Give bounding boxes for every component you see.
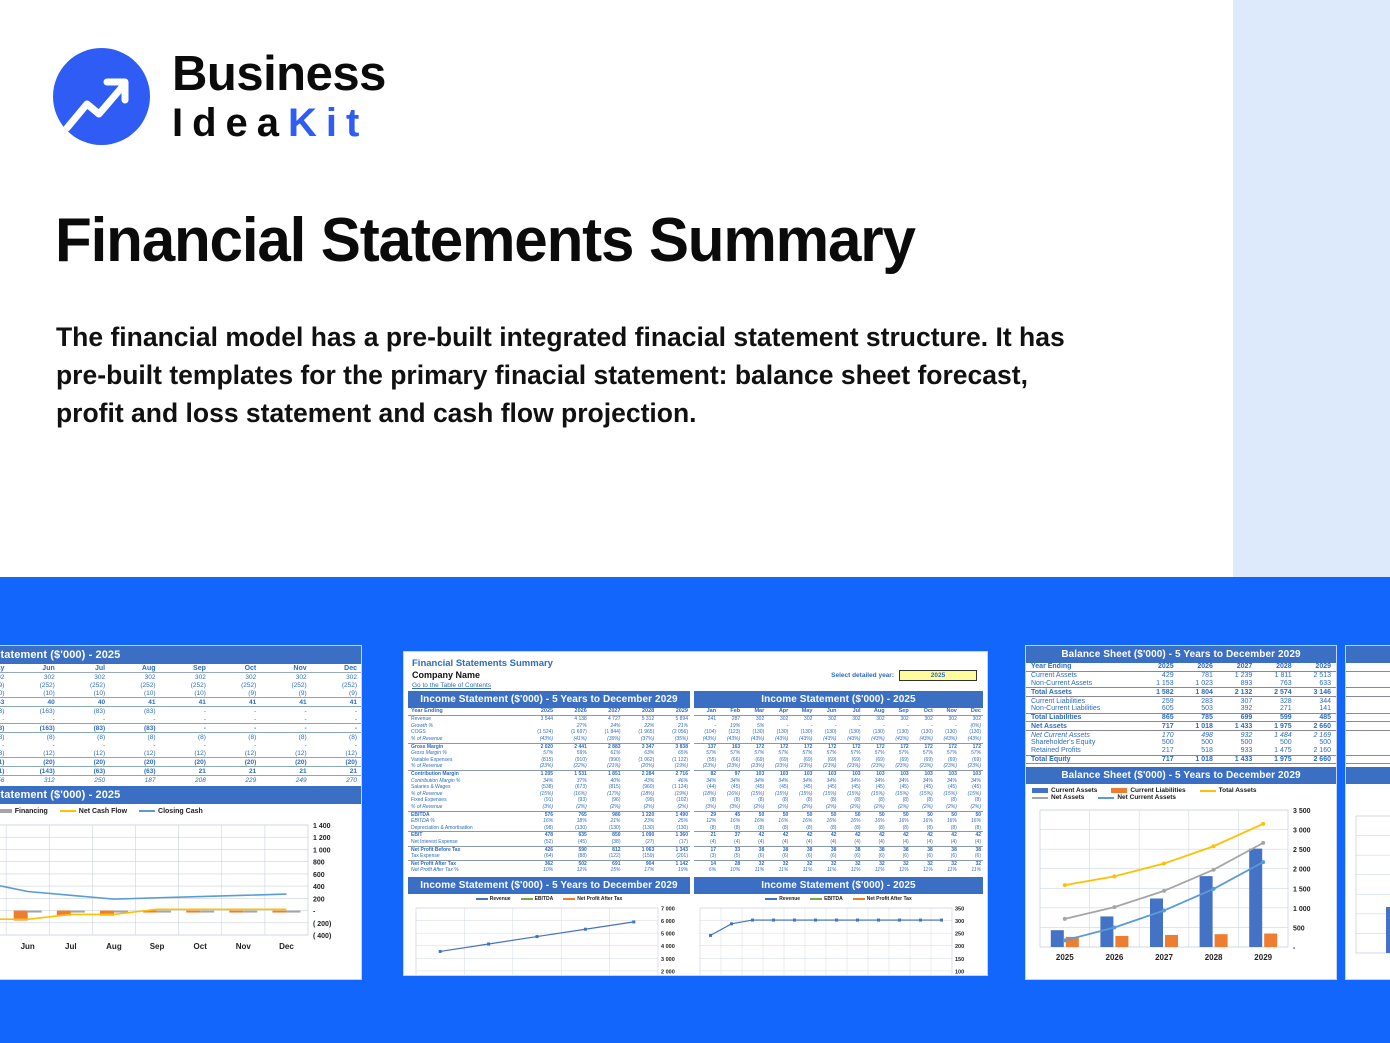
table-row: 124: [1346, 680, 1390, 688]
table-cell: (45): [863, 784, 887, 791]
table-cell: (23%): [814, 763, 838, 770]
table-cell: (8): [311, 733, 361, 742]
table-cell: 512: [1346, 722, 1390, 731]
table-cell: (8): [887, 797, 911, 804]
legend-item: Net Current Assets: [1098, 794, 1176, 801]
month-header: Sep: [160, 664, 210, 673]
table-cell: (8): [8, 733, 58, 742]
table-cell: (20): [8, 758, 58, 767]
table-cell: (130): [555, 825, 589, 832]
table-cell: (69): [790, 757, 814, 764]
table-cell: (9): [210, 689, 260, 698]
table-cell: 590: [555, 846, 589, 853]
legend-label: Current Liabilities: [1130, 787, 1185, 794]
table-cell: (18%): [623, 791, 657, 798]
table-cell: (6): [911, 853, 935, 860]
decorative-right-strip: [1233, 0, 1390, 577]
table-cell: (15%): [863, 791, 887, 798]
table-row: Current Assets4297811 2391 8112 513: [1026, 671, 1336, 679]
table-cell: 512: [1346, 755, 1390, 764]
table-cell: 1 975: [1257, 722, 1296, 731]
table-cell: (19%): [656, 763, 690, 770]
table-cell: 500: [1139, 739, 1178, 747]
table-cell: (163): [8, 707, 58, 716]
svg-text:1 200: 1 200: [313, 835, 331, 842]
table-row: 1 174: [1346, 671, 1390, 679]
screenshot-cash-flow[interactable]: Cash Flow Statement ($'000) - 2025 MayJu…: [0, 645, 362, 980]
table-cell: 187: [109, 776, 159, 785]
table-row: 137163172172172172172172172172172172: [694, 743, 983, 750]
table-cell: (19%): [656, 791, 690, 798]
table-cell: 42: [887, 832, 911, 839]
table-cell: Total Equity: [1026, 755, 1139, 764]
svg-text:1 500: 1 500: [1293, 887, 1311, 894]
table-cell: (8): [863, 797, 887, 804]
table-cell: 980: [589, 811, 623, 818]
table-cell: (8): [260, 733, 310, 742]
table-cell: (6): [790, 853, 814, 860]
table-cell: Current Liabilities: [1026, 697, 1139, 705]
table-cell: (16%): [555, 791, 589, 798]
legend-item: EBITDA: [521, 896, 554, 902]
table-cell: (20): [311, 758, 361, 767]
table-cell: (673): [555, 784, 589, 791]
month-header: May: [790, 708, 814, 716]
table-cell: 93: [1346, 697, 1390, 705]
legend-label: Net Profit After Tax: [577, 896, 622, 902]
table-cell: (63): [59, 767, 109, 776]
table-row: 302302302302302302302302: [0, 673, 361, 682]
table-row: --------: [0, 741, 361, 749]
table-cell: 11%: [814, 867, 838, 874]
table-cell: 103: [911, 771, 935, 778]
table-cell: 27%: [555, 723, 589, 730]
legend-label: Net Profit After Tax: [867, 896, 912, 902]
table-cell: 38: [887, 846, 911, 853]
table-cell: 10%: [521, 867, 555, 874]
table-cell: -: [838, 723, 862, 730]
table-cell: (8): [694, 797, 718, 804]
svg-text:6 000: 6 000: [661, 919, 675, 925]
month-header: Aug: [109, 664, 159, 673]
svg-text:350: 350: [955, 906, 964, 912]
table-cell: (2%): [887, 804, 911, 811]
table-row: Gross Margin2 0202 4412 8833 3473 838: [408, 743, 690, 750]
table-row: EBITDA5767659801 2201 490: [408, 811, 690, 818]
table-cell: 172: [935, 743, 959, 750]
screenshot-balance-sheet[interactable]: Balance Sheet ($'000) - 5 Years to Decem…: [1025, 645, 1337, 980]
table-cell: Contribution Margin %: [408, 778, 521, 785]
table-cell: (21%): [589, 763, 623, 770]
table-cell: 21: [260, 767, 310, 776]
table-row: (13)(12)(12)(12)(12)(12)(12)(12): [0, 749, 361, 758]
table-cell: 33: [718, 846, 742, 853]
trend-arrow-up-icon: [53, 48, 150, 145]
table-cell: (15%): [911, 791, 935, 798]
table-cell: (123): [718, 729, 742, 736]
table-cell: (12): [59, 749, 109, 758]
table-cell: 302: [742, 716, 766, 723]
table-cell: (5): [718, 853, 742, 860]
table-cell: (910): [555, 757, 589, 764]
table-cell: -: [935, 723, 959, 730]
table-cell: 42: [863, 832, 887, 839]
year-header: 2026: [555, 708, 589, 716]
table-cell: Tax Expense: [408, 853, 521, 860]
table-cell: 50: [935, 811, 959, 818]
svg-text:200: 200: [955, 944, 964, 950]
table-cell: (37%): [623, 736, 657, 743]
table-cell: 34%: [694, 778, 718, 785]
svg-text:3 500: 3 500: [1293, 808, 1311, 815]
table-cell: (23%): [766, 763, 790, 770]
table-cell: -: [109, 715, 159, 724]
month-header: Dec: [311, 664, 361, 673]
annual-income-header: Year Ending20252026202720282029: [408, 708, 690, 716]
year-header: 2029: [656, 708, 690, 716]
table-cell: 42: [935, 832, 959, 839]
table-row: EBIT4786358501 0901 360: [408, 832, 690, 839]
table-cell: -: [814, 723, 838, 730]
table-cell: (45): [555, 839, 589, 846]
table-cell: 302: [0, 673, 8, 682]
table-cell: 34%: [814, 778, 838, 785]
legend-label: Net Current Assets: [1117, 794, 1176, 801]
table-cell: (69): [838, 757, 862, 764]
table-cell: (8): [766, 825, 790, 832]
legend-label: Total Assets: [1219, 787, 1257, 794]
table-row: Growth %27%24%22%21%: [408, 723, 690, 730]
table-cell: (22%): [555, 763, 589, 770]
table-cell: 271: [1257, 705, 1296, 713]
table-cell: 15%: [589, 867, 623, 874]
table-cell: 43%: [623, 778, 657, 785]
table-cell: 502: [555, 860, 589, 867]
table-cell: (4): [814, 839, 838, 846]
month-header: Nov: [260, 664, 310, 673]
table-cell: 1 142: [656, 860, 690, 867]
table-cell: -: [260, 724, 310, 733]
table-cell: 50: [959, 811, 983, 818]
page-description: The financial model has a pre-built inte…: [56, 318, 1096, 432]
table-cell: (4): [742, 839, 766, 846]
screenshot-income-statement[interactable]: Financial Statements Summary Company Nam…: [403, 651, 988, 976]
table-cell: 865: [1139, 713, 1178, 722]
table-row: 12%16%16%16%16%16%16%16%16%16%16%16%: [694, 818, 983, 825]
legend-label: Revenue: [490, 896, 511, 902]
legend-label: Net Assets: [1051, 794, 1084, 801]
svg-text:Aug: Aug: [106, 942, 122, 951]
table-row: 512: [1346, 755, 1390, 764]
table-cell: 11%: [790, 867, 814, 874]
table-cell: (3): [694, 853, 718, 860]
table-cell: 40: [8, 698, 58, 707]
table-cell: 518: [1179, 747, 1218, 755]
table-cell: 16%: [935, 818, 959, 825]
table-cell: (8): [718, 797, 742, 804]
table-cell: 172: [911, 743, 935, 750]
svg-text:2028: 2028: [1205, 953, 1223, 962]
table-cell: (4): [838, 839, 862, 846]
table-cell: 57%: [911, 750, 935, 757]
table-cell: 1 174: [1346, 671, 1390, 679]
table-cell: (45): [814, 784, 838, 791]
table-cell: (8): [911, 825, 935, 832]
table-cell: 172: [863, 743, 887, 750]
table-cell: (252): [160, 681, 210, 689]
svg-text:Jul: Jul: [65, 942, 77, 951]
table-cell: 12%: [694, 818, 718, 825]
table-row: (104)(123)(130)(130)(130)(130)(130)(130)…: [694, 729, 983, 736]
table-cell: 283: [1179, 697, 1218, 705]
table-cell: (96): [589, 797, 623, 804]
table-cell: (8): [863, 825, 887, 832]
table-row: 4340404141414141: [0, 698, 361, 707]
table-cell: 34%: [959, 778, 983, 785]
table-cell: (8): [718, 825, 742, 832]
table-cell: -: [109, 741, 159, 749]
table-row: % of Revenue(23%)(22%)(21%)(20%)(19%): [408, 763, 690, 770]
table-cell: (8): [935, 825, 959, 832]
table-cell: (8): [814, 797, 838, 804]
table-cell: 34%: [911, 778, 935, 785]
table-row: Net Interest Expense(52)(45)(38)(27)(17): [408, 839, 690, 846]
table-cell: -: [311, 707, 361, 716]
annual-income-chart-legend: RevenueEBITDANet Profit After Tax: [408, 894, 690, 904]
table-cell: 43: [0, 698, 8, 707]
table-cell: 38: [838, 846, 862, 853]
table-cell: Retained Profits: [1026, 747, 1139, 755]
table-cell: 32: [959, 860, 983, 867]
table-cell: (43%): [814, 736, 838, 743]
table-cell: (15%): [935, 791, 959, 798]
table-cell: 2 160: [1297, 747, 1336, 755]
table-cell: -: [260, 715, 310, 724]
table-cell: (83): [59, 724, 109, 733]
table-cell: (8): [160, 733, 210, 742]
table-cell: Contribution Margin: [408, 771, 521, 778]
month-header: Jan: [1346, 663, 1390, 671]
table-cell: 46%: [656, 778, 690, 785]
table-cell: 21: [694, 832, 718, 839]
svg-text:400: 400: [313, 884, 325, 891]
table-cell: (8): [0, 733, 8, 742]
table-row: Tax Expense(64)(88)(122)(159)(201): [408, 853, 690, 860]
table-row: Net Assets7171 0181 4331 9752 660: [1026, 722, 1336, 731]
table-cell: 103: [766, 771, 790, 778]
table-cell: 14: [694, 860, 718, 867]
year-selector-input[interactable]: 2025: [899, 670, 977, 681]
svg-text:2025: 2025: [1056, 953, 1074, 962]
mid-heading: Financial Statements Summary: [412, 658, 979, 669]
brand-name-secondary: IdeaKit: [172, 103, 386, 143]
table-cell: 63%: [623, 750, 657, 757]
month-header: Sep: [887, 708, 911, 716]
table-cell: (69): [766, 757, 790, 764]
legend-label: Current Assets: [1051, 787, 1097, 794]
table-row: Salaries & Wages(538)(673)(815)(960)(1 1…: [408, 784, 690, 791]
table-cell: (17): [656, 839, 690, 846]
table-row: 294550505050505050505050: [694, 811, 983, 818]
table-cell: 302: [160, 673, 210, 682]
month-header: Mar: [742, 708, 766, 716]
far-monthly-table: Jan 1 1741241 297936927865121 0815001251…: [1346, 663, 1390, 764]
table-cell: 38: [766, 846, 790, 853]
svg-text:300: 300: [955, 919, 964, 925]
table-cell: (69): [863, 757, 887, 764]
table-cell: 392: [1218, 705, 1257, 713]
table-cell: (45): [959, 784, 983, 791]
table-cell: 11%: [863, 867, 887, 874]
table-cell: 1 433: [1218, 722, 1257, 731]
table-cell: 38: [742, 846, 766, 853]
table-row: 93: [1346, 697, 1390, 705]
table-cell: (4): [766, 839, 790, 846]
table-cell: 38: [935, 846, 959, 853]
balance-sheet-chart: 3 5003 0002 5002 0001 5001 000500-202520…: [1026, 804, 1337, 969]
table-cell: (1 122): [656, 757, 690, 764]
table-cell: (39%): [589, 736, 623, 743]
table-cell: 32: [790, 860, 814, 867]
table-cell: (43%): [718, 736, 742, 743]
legend-item: Net Cash Flow: [60, 808, 127, 815]
table-cell: 1 205: [521, 771, 555, 778]
month-header: May: [0, 664, 8, 673]
table-row: COGS(1 524)(1 697)(1 844)(1 965)(2 056): [408, 729, 690, 736]
table-cell: 2 020: [521, 743, 555, 750]
table-cell: 2 132: [1218, 688, 1257, 697]
table-of-contents-link[interactable]: Go to the Table of Contents: [412, 682, 979, 689]
annual-income-chart: 7 0006 0005 0004 0003 0002 0001 000-2025…: [408, 904, 690, 976]
table-cell: (15%): [887, 791, 911, 798]
table-cell: (2%): [790, 804, 814, 811]
page-title: Financial Statements Summary: [55, 205, 915, 276]
table-cell: 633: [1297, 680, 1336, 688]
year-header: 2028: [623, 708, 657, 716]
table-cell: 717: [1139, 722, 1178, 731]
table-row: 12: [1346, 747, 1390, 755]
svg-text:Oct: Oct: [194, 942, 208, 951]
table-row: Net Profit After Tax3625026919041 142: [408, 860, 690, 867]
table-cell: (130): [623, 825, 657, 832]
table-cell: 2 284: [623, 771, 657, 778]
table-cell: 103: [790, 771, 814, 778]
table-cell: 57%: [521, 750, 555, 757]
table-row: 1 297: [1346, 688, 1390, 697]
table-cell: 42: [742, 832, 766, 839]
table-cell: 41: [210, 698, 260, 707]
table-cell: [521, 723, 555, 730]
table-row: 34%34%34%34%34%34%34%34%34%34%34%34%: [694, 778, 983, 785]
table-cell: 23%: [623, 818, 657, 825]
table-cell: 362: [521, 860, 555, 867]
year-selector[interactable]: Select detailed year: 2025: [831, 670, 977, 681]
table-cell: 1 343: [656, 846, 690, 853]
table-cell: 82: [694, 771, 718, 778]
table-cell: (2%): [589, 804, 623, 811]
svg-text:2 000: 2 000: [661, 969, 675, 975]
table-cell: (45): [935, 784, 959, 791]
table-cell: EBITDA %: [408, 818, 521, 825]
table-cell: (163): [0, 724, 8, 733]
year-selector-label: Select detailed year:: [831, 672, 894, 679]
table-cell: (99): [623, 797, 657, 804]
table-cell: (1 844): [589, 729, 623, 736]
table-cell: 5 312: [623, 716, 657, 723]
year-header: 2026: [1179, 663, 1218, 671]
table-cell: Revenue: [408, 716, 521, 723]
table-cell: (130): [589, 825, 623, 832]
table-cell: (6): [766, 853, 790, 860]
table-cell: (163): [8, 724, 58, 733]
table-cell: (1 697): [555, 729, 589, 736]
table-cell: 287: [718, 716, 742, 723]
legend-item: Revenue: [476, 896, 511, 902]
table-row: % of Revenue(43%)(41%)(39%)(37%)(35%): [408, 736, 690, 743]
table-cell: (23%): [790, 763, 814, 770]
screenshot-balance-sheet-monthly[interactable]: Jan 1 1741241 297936927865121 0815001251…: [1345, 645, 1390, 980]
table-row: 786: [1346, 713, 1390, 722]
table-cell: Shareholder's Equity: [1026, 739, 1139, 747]
svg-text:2026: 2026: [1106, 953, 1124, 962]
table-row: (141)(143)(63)(63)21212121: [0, 767, 361, 776]
table-cell: 11%: [911, 867, 935, 874]
table-cell: 57%: [838, 750, 862, 757]
table-cell: (8): [838, 825, 862, 832]
table-cell: (23%): [694, 763, 718, 770]
table-cell: 34%: [766, 778, 790, 785]
table-cell: Gross Margin: [408, 743, 521, 750]
table-cell: 302: [911, 716, 935, 723]
table-cell: 32: [742, 860, 766, 867]
table-row: 173338383838383838383838: [694, 846, 983, 853]
month-header: Jan: [694, 708, 718, 716]
table-row: Current Liabilities259283307328344: [1026, 697, 1336, 705]
table-cell: 172: [742, 743, 766, 750]
table-cell: 22%: [623, 723, 657, 730]
table-cell: (10): [0, 689, 8, 698]
table-cell: 270: [311, 776, 361, 785]
table-cell: 763: [1257, 680, 1296, 688]
table-cell: 50: [814, 811, 838, 818]
svg-text:7 000: 7 000: [661, 906, 675, 912]
table-row: 57%57%57%57%57%57%57%57%57%57%57%57%: [694, 750, 983, 757]
table-cell: 97: [718, 771, 742, 778]
table-cell: (990): [589, 757, 623, 764]
table-cell: 17%: [623, 867, 657, 874]
table-cell: 50: [838, 811, 862, 818]
table-row: Total Equity7171 0181 4331 9752 660: [1026, 755, 1336, 764]
legend-item: Current Liabilities: [1111, 787, 1185, 794]
month-header: Aug: [863, 708, 887, 716]
table-cell: 1 297: [1346, 688, 1390, 697]
table-cell: 137: [694, 743, 718, 750]
table-row: 512: [1346, 722, 1390, 731]
svg-text:800: 800: [313, 860, 325, 867]
table-cell: 10%: [718, 867, 742, 874]
svg-text:2027: 2027: [1155, 953, 1173, 962]
table-cell: 1 811: [1257, 671, 1296, 679]
table-cell: 65%: [656, 750, 690, 757]
table-cell: (23%): [718, 763, 742, 770]
table-cell: 21%: [589, 818, 623, 825]
table-cell: (3%): [521, 804, 555, 811]
far-header: Jan: [1346, 663, 1390, 671]
table-cell: 259: [1139, 697, 1178, 705]
table-cell: (0%): [959, 723, 983, 730]
table-cell: (38): [589, 839, 623, 846]
table-cell: (2%): [766, 804, 790, 811]
